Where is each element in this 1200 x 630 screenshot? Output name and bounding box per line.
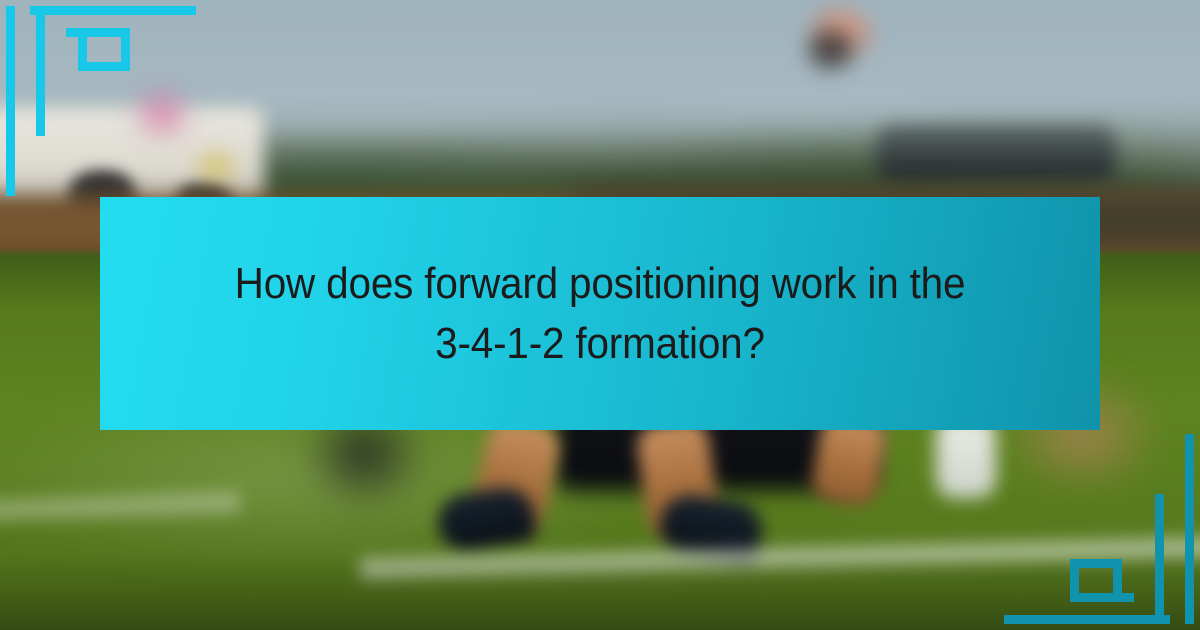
dark-car [876,126,1116,183]
bottom-right-corner-ornament [1000,430,1200,630]
corner-square-left-edge [78,28,87,71]
corner-bar-horizontal-outer [30,6,196,15]
corner-bar-vertical-outer [6,6,15,196]
corner-square-right-edge [121,28,130,71]
title-line-2: 3-4-1-2 formation? [435,319,765,368]
corner-bar-horizontal-outer [1004,615,1170,624]
corner-square-left-edge [1070,559,1079,602]
corner-square-right-edge [1113,559,1122,602]
corner-bar-vertical-inner [1155,494,1164,624]
headline-banner: How does forward positioning work in the… [100,197,1100,430]
title-line-1: How does forward positioning work in the [235,259,966,308]
top-left-corner-ornament [0,0,200,200]
page-title: How does forward positioning work in the… [195,254,1005,373]
social-card: How does forward positioning work in the… [0,0,1200,630]
corner-bar-vertical-outer [1185,434,1194,624]
football-in-air [798,6,876,75]
corner-bar-vertical-inner [36,6,45,136]
